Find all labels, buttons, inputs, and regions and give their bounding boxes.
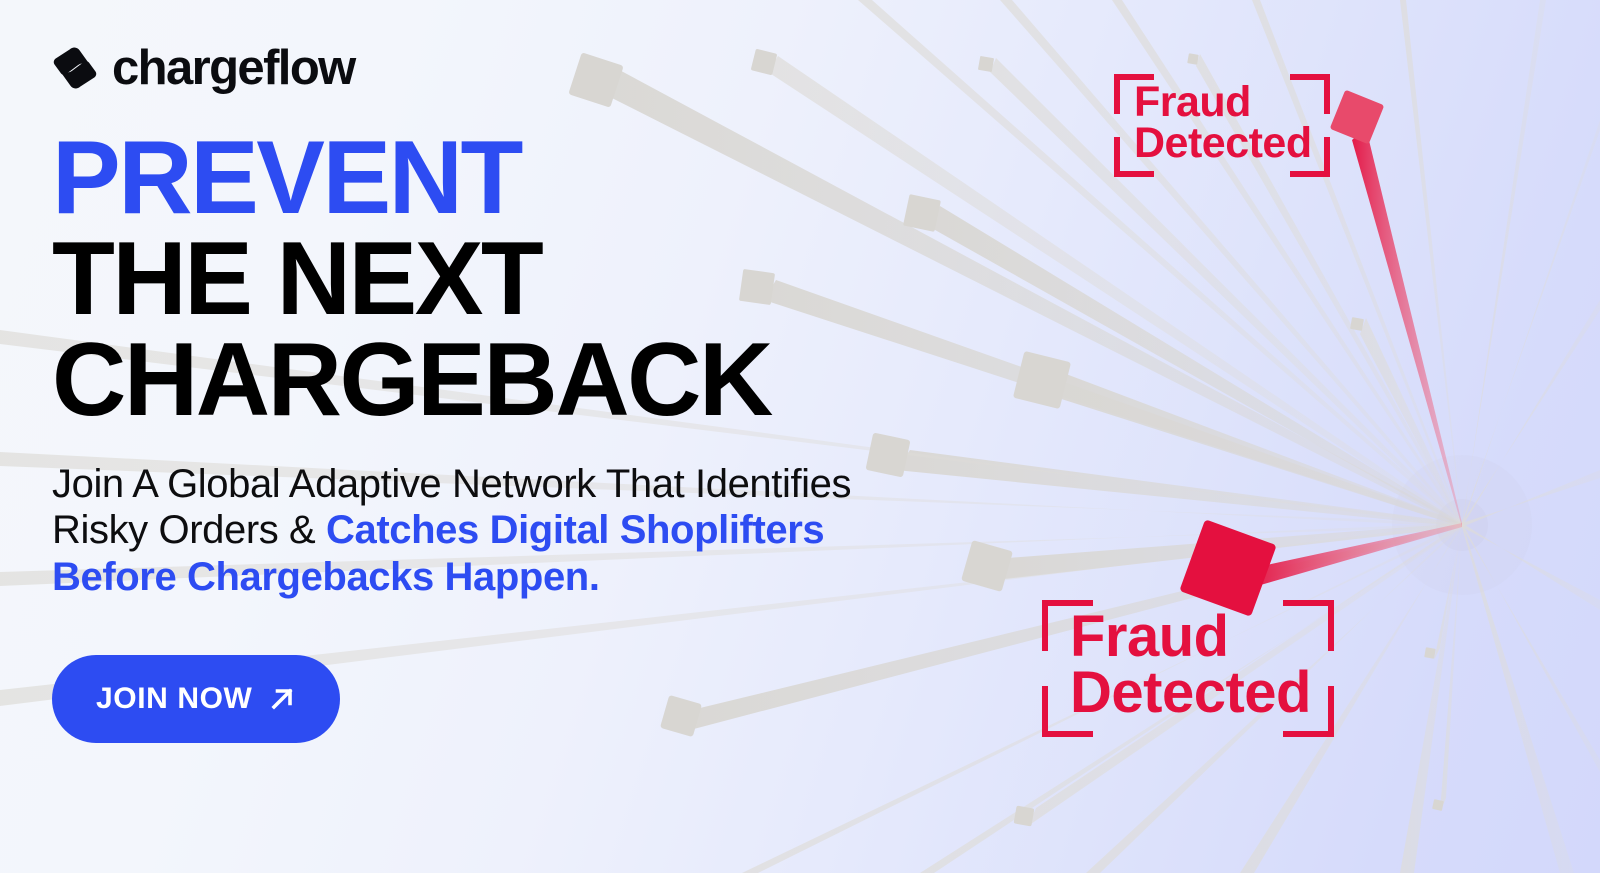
hero-content: chargeflow PREVENT THE NEXT CHARGEBACK J… bbox=[52, 44, 952, 743]
marketing-banner: chargeflow PREVENT THE NEXT CHARGEBACK J… bbox=[0, 0, 1600, 873]
chargeflow-infinity-mark-icon bbox=[52, 47, 98, 89]
badge-line-2: Detected bbox=[1134, 123, 1312, 164]
brand-logo[interactable]: chargeflow bbox=[52, 44, 952, 92]
alert-rays bbox=[1250, 128, 1462, 588]
brand-name: chargeflow bbox=[112, 44, 355, 93]
badge-line-2: Detected bbox=[1070, 665, 1311, 721]
cta-container: JOIN NOW bbox=[52, 655, 952, 743]
headline-line-2: THE NEXT bbox=[52, 229, 943, 330]
headline-line-3: CHARGEBACK bbox=[52, 330, 943, 431]
headline-line-1: PREVENT bbox=[52, 128, 943, 229]
join-now-label: JOIN NOW bbox=[96, 684, 252, 714]
badge-text: Fraud Detected bbox=[1134, 82, 1312, 165]
page-title: PREVENT THE NEXT CHARGEBACK bbox=[52, 128, 943, 431]
badge-text: Fraud Detected bbox=[1070, 609, 1311, 720]
arrow-up-right-icon bbox=[268, 685, 296, 713]
join-now-button[interactable]: JOIN NOW bbox=[52, 655, 340, 743]
status-badge-fraud-detected-top: Fraud Detected bbox=[1114, 74, 1330, 177]
subheading: Join A Global Adaptive Network That Iden… bbox=[52, 461, 892, 601]
status-badge-fraud-detected-bottom: Fraud Detected bbox=[1042, 600, 1334, 737]
badge-line-1: Fraud bbox=[1134, 82, 1312, 123]
badge-line-1: Fraud bbox=[1070, 609, 1311, 665]
